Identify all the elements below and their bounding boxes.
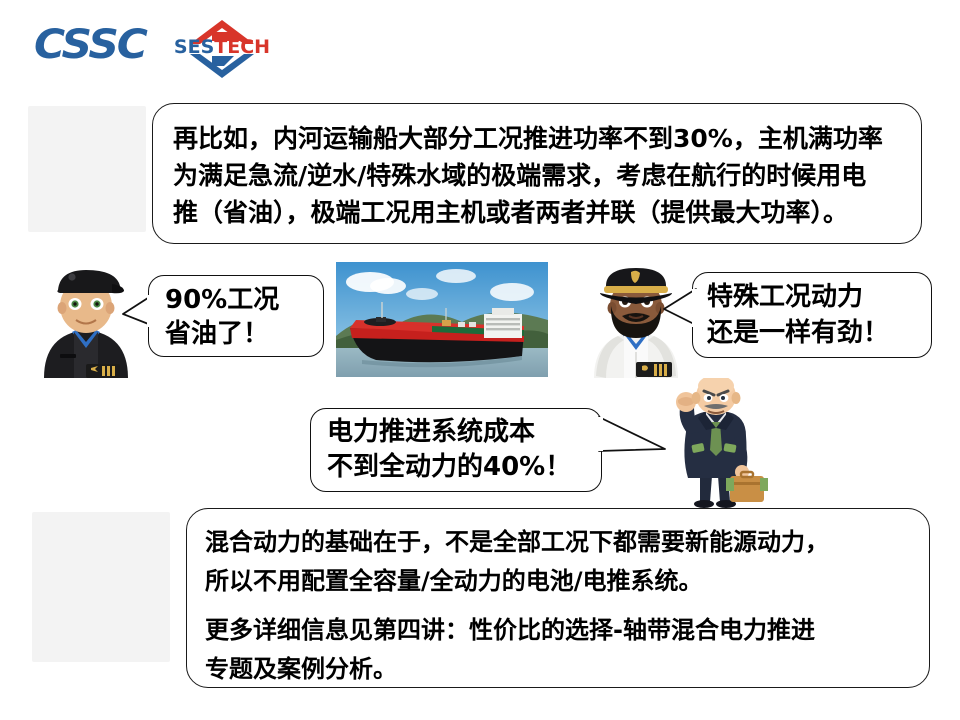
cost-line-1: 电力推进系统成本 (327, 415, 601, 450)
sestech-logo: SESTECH (172, 14, 272, 80)
narration-box-top: 再比如，内河运输船大部分工况推进功率不到30%，主机满功率 为满足急流/逆水/特… (152, 103, 922, 244)
narration-top-line-2: 为满足急流/逆水/特殊水域的极端需求，考虑在航行的时候用电 (173, 157, 903, 194)
bubble-tail-left-icon-2 (663, 287, 697, 335)
businessman-figure-icon (656, 378, 774, 508)
narration-bottom-p1-line-2: 所以不用配置全容量/全动力的电池/电推系统。 (205, 562, 913, 601)
river-cargo-ship-photo (336, 262, 548, 377)
slide-canvas: CSSC SESTECH (0, 0, 960, 720)
avatar-background (28, 106, 146, 232)
fuel-saving-line-2: 省油了！ (165, 317, 323, 351)
sestech-logo-wordmark: SESTECH (172, 38, 272, 57)
narration-top-line-3: 推（省油），极端工况用主机或者两者并联（提供最大功率）。 (173, 194, 903, 231)
narration-bottom-p2-line-2: 专题及案例分析。 (205, 650, 913, 689)
narration-bottom-p2-line-1: 更多详细信息见第四讲：性价比的选择-轴带混合电力推进 (205, 611, 913, 650)
narration-box-bottom: 混合动力的基础在于，不是全部工况下都需要新能源动力， 所以不用配置全容量/全动力… (186, 508, 930, 688)
special-power-line-1: 特殊工况动力 (707, 279, 931, 315)
speech-bubble-special-power: 特殊工况动力 还是一样有劲！ (692, 272, 932, 358)
fuel-saving-line-1: 90%工况 (165, 283, 323, 317)
narration-bottom-p1-line-1: 混合动力的基础在于，不是全部工况下都需要新能源动力， (205, 523, 913, 562)
bubble-tail-right-icon (597, 415, 667, 473)
sestech-tech-text: TECH (214, 36, 270, 58)
avatar-background-2 (32, 512, 170, 662)
ship-photo-graphic (336, 262, 548, 377)
narration-top-line-1: 再比如，内河运输船大部分工况推进功率不到30%，主机满功率 (173, 120, 903, 157)
cost-line-2: 不到全动力的40%！ (327, 450, 601, 485)
speech-bubble-cost: 电力推进系统成本 不到全动力的40%！ (310, 408, 602, 492)
bubble-tail-left-icon (122, 292, 152, 334)
cssc-logo-text: CSSC (34, 22, 161, 68)
speech-bubble-fuel-saving: 90%工况 省油了！ (148, 275, 324, 357)
graduate-avatar-top (28, 106, 146, 232)
businessman-avatar (656, 378, 774, 508)
cssc-logo: CSSC (34, 22, 154, 68)
sestech-ses-text: SES (174, 36, 214, 58)
special-power-line-2: 还是一样有劲！ (707, 315, 931, 351)
graduate-avatar-bottom (32, 512, 170, 662)
